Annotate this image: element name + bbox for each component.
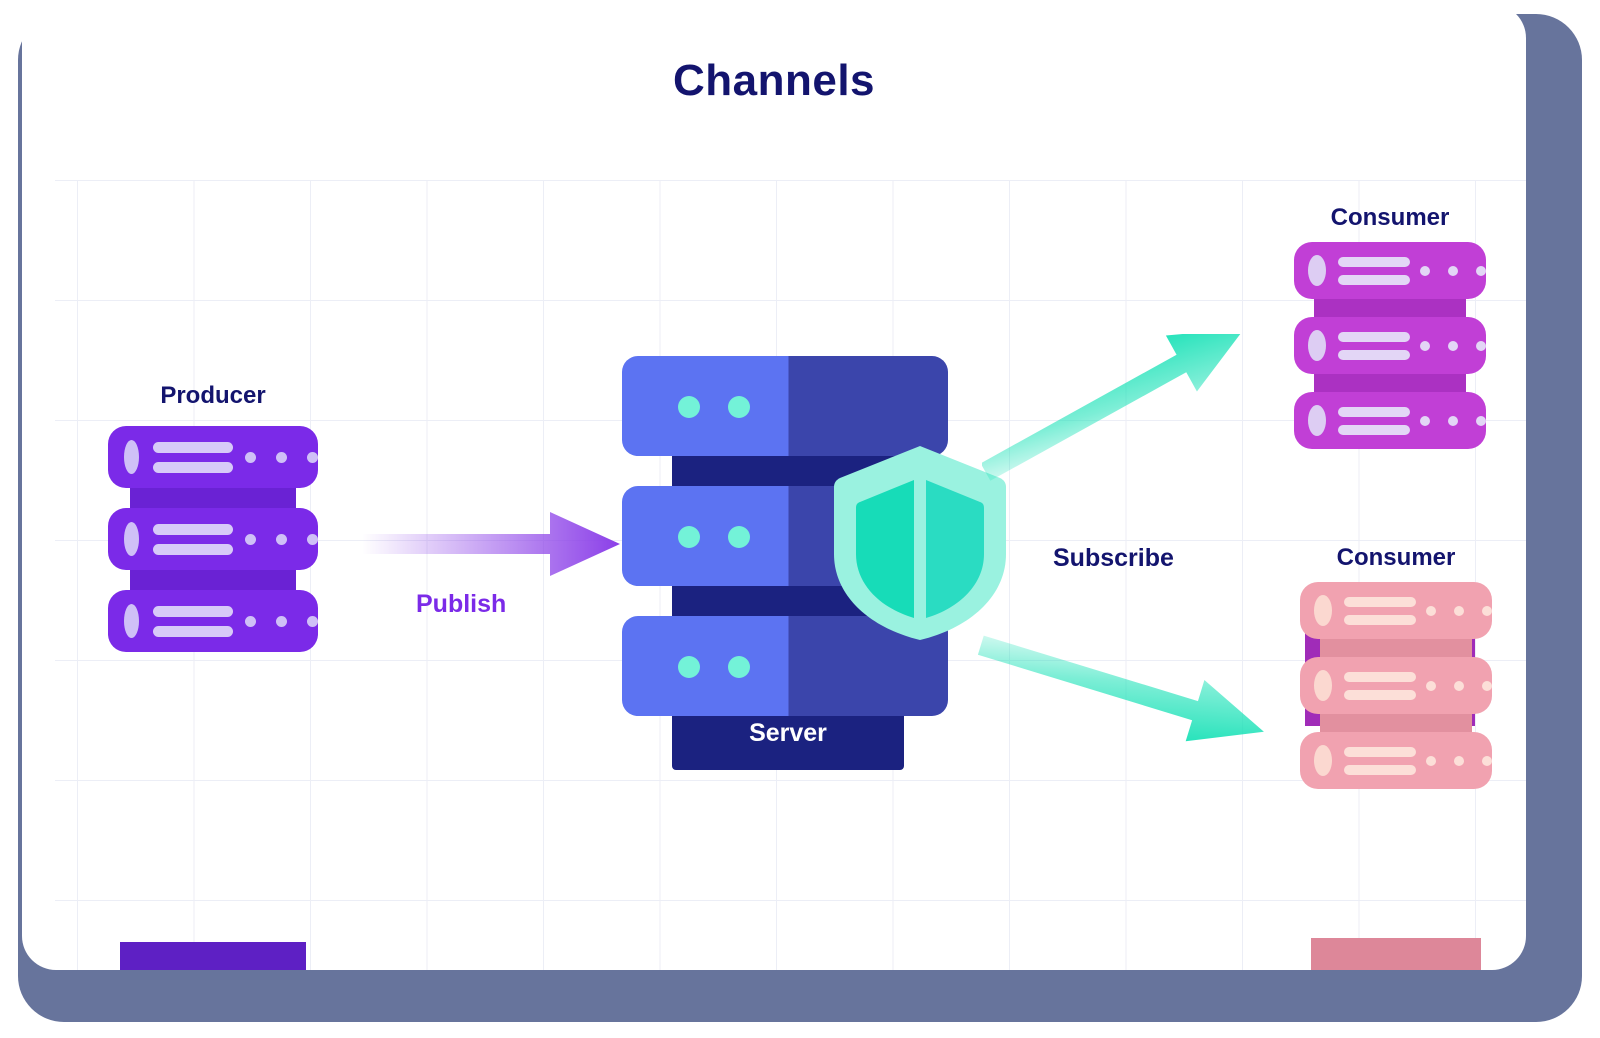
indicator-dot-icon xyxy=(728,656,750,678)
diagram-card: Channels Producer TAXII Client xyxy=(22,4,1526,970)
slab-leds xyxy=(245,452,318,463)
consumer-slab xyxy=(1300,582,1492,639)
slab-leds xyxy=(1426,606,1492,616)
subscribe-label: Subscribe xyxy=(1053,544,1174,573)
slab-bar xyxy=(153,462,233,473)
led-icon xyxy=(1482,606,1492,616)
led-icon xyxy=(1426,606,1436,616)
led-icon xyxy=(1448,266,1458,276)
indicator-dot-icon xyxy=(728,526,750,548)
consumer-stack-bottom[interactable]: Consumer TAXII Client xyxy=(1300,544,1492,834)
slab-bar xyxy=(1338,332,1410,342)
slab-bar xyxy=(1338,407,1410,417)
consumer-slab xyxy=(1294,392,1486,449)
publish-arrow-icon xyxy=(352,504,632,584)
slab-bars xyxy=(153,442,233,473)
server-indicator-group xyxy=(678,396,750,418)
diagram-stage: Channels Producer TAXII Client xyxy=(0,0,1600,1038)
producer-slab xyxy=(108,508,318,570)
slab-leds xyxy=(1420,416,1486,426)
server-base-line2: Server xyxy=(749,718,827,748)
producer-stack[interactable]: Producer TAXII Client xyxy=(108,382,318,712)
slab-bar xyxy=(1344,597,1416,607)
slab-bars xyxy=(1344,747,1416,775)
slab-leds xyxy=(1426,681,1492,691)
consumer-label: Consumer xyxy=(1337,544,1456,572)
led-icon xyxy=(276,534,287,545)
shield-icon xyxy=(834,444,1006,642)
slab-bar xyxy=(1338,350,1410,360)
led-icon xyxy=(1420,416,1430,426)
slab-bar xyxy=(1338,257,1410,267)
led-icon xyxy=(1476,266,1486,276)
status-light-icon xyxy=(1308,330,1326,361)
slab-bar xyxy=(153,626,233,637)
led-icon xyxy=(1426,681,1436,691)
status-light-icon xyxy=(124,522,139,556)
slab-bars xyxy=(153,606,233,637)
subscribe-arrow-up-icon xyxy=(982,334,1292,484)
subscribe-arrow-down-icon xyxy=(977,634,1287,754)
led-icon xyxy=(245,452,256,463)
slab-bar xyxy=(1344,747,1416,757)
led-icon xyxy=(1482,681,1492,691)
server-slab xyxy=(622,356,948,456)
slab-bar xyxy=(1338,425,1410,435)
slab-bar xyxy=(1344,615,1416,625)
producer-connector xyxy=(130,568,296,590)
led-icon xyxy=(1420,266,1430,276)
producer-base-plate: TAXII Client xyxy=(120,942,306,970)
consumer-slab xyxy=(1294,242,1486,299)
slab-bar xyxy=(1338,275,1410,285)
consumer-slab xyxy=(1300,657,1492,714)
led-icon xyxy=(1454,756,1464,766)
led-icon xyxy=(1476,416,1486,426)
slab-leds xyxy=(1420,266,1486,276)
slab-bars xyxy=(153,524,233,555)
slab-leds xyxy=(1420,341,1486,351)
producer-label: Producer xyxy=(160,382,265,410)
slab-leds xyxy=(1426,756,1492,766)
led-icon xyxy=(1420,341,1430,351)
consumer-connector xyxy=(1314,297,1466,317)
slab-bar xyxy=(1344,765,1416,775)
led-icon xyxy=(1448,341,1458,351)
status-light-icon xyxy=(124,604,139,638)
led-icon xyxy=(245,534,256,545)
producer-slab xyxy=(108,590,318,652)
slab-bars xyxy=(1344,597,1416,625)
led-icon xyxy=(1426,756,1436,766)
server-indicator-group xyxy=(678,656,750,678)
producer-connector xyxy=(130,486,296,508)
status-light-icon xyxy=(124,440,139,474)
consumer-connector xyxy=(1320,637,1472,657)
slab-bar xyxy=(153,442,233,453)
led-icon xyxy=(307,452,318,463)
status-light-icon xyxy=(1308,255,1326,286)
consumer-connector xyxy=(1320,712,1472,732)
indicator-dot-icon xyxy=(678,526,700,548)
slab-bars xyxy=(1338,407,1410,435)
led-icon xyxy=(245,616,256,627)
led-icon xyxy=(1454,681,1464,691)
status-light-icon xyxy=(1314,670,1332,701)
status-light-icon xyxy=(1308,405,1326,436)
page-title: Channels xyxy=(22,56,1526,106)
led-icon xyxy=(307,616,318,627)
slab-bars xyxy=(1344,672,1416,700)
indicator-dot-icon xyxy=(678,396,700,418)
slab-bar xyxy=(153,544,233,555)
server-indicator-group xyxy=(678,526,750,548)
indicator-dot-icon xyxy=(678,656,700,678)
consumer-base-plate: TAXII Client xyxy=(1311,938,1481,970)
slab-bar xyxy=(153,524,233,535)
led-icon xyxy=(1448,416,1458,426)
slab-leds xyxy=(245,534,318,545)
consumer-slab xyxy=(1300,732,1492,789)
led-icon xyxy=(1454,606,1464,616)
consumer-slab xyxy=(1294,317,1486,374)
slab-bars xyxy=(1338,332,1410,360)
taxii-server[interactable]: TAXII Server xyxy=(622,356,952,780)
led-icon xyxy=(1476,341,1486,351)
consumer-label: Consumer xyxy=(1331,204,1450,232)
consumer-stack-top[interactable]: Consumer TAXII Client xyxy=(1294,204,1486,494)
producer-slab xyxy=(108,426,318,488)
status-light-icon xyxy=(1314,595,1332,626)
slab-bar xyxy=(1344,690,1416,700)
slab-leds xyxy=(245,616,318,627)
led-icon xyxy=(307,534,318,545)
slab-bar xyxy=(153,606,233,617)
status-light-icon xyxy=(1314,745,1332,776)
led-icon xyxy=(276,616,287,627)
slab-bars xyxy=(1338,257,1410,285)
publish-label: Publish xyxy=(416,590,506,619)
indicator-dot-icon xyxy=(728,396,750,418)
led-icon xyxy=(1482,756,1492,766)
led-icon xyxy=(276,452,287,463)
slab-bar xyxy=(1344,672,1416,682)
consumer-connector xyxy=(1314,372,1466,392)
